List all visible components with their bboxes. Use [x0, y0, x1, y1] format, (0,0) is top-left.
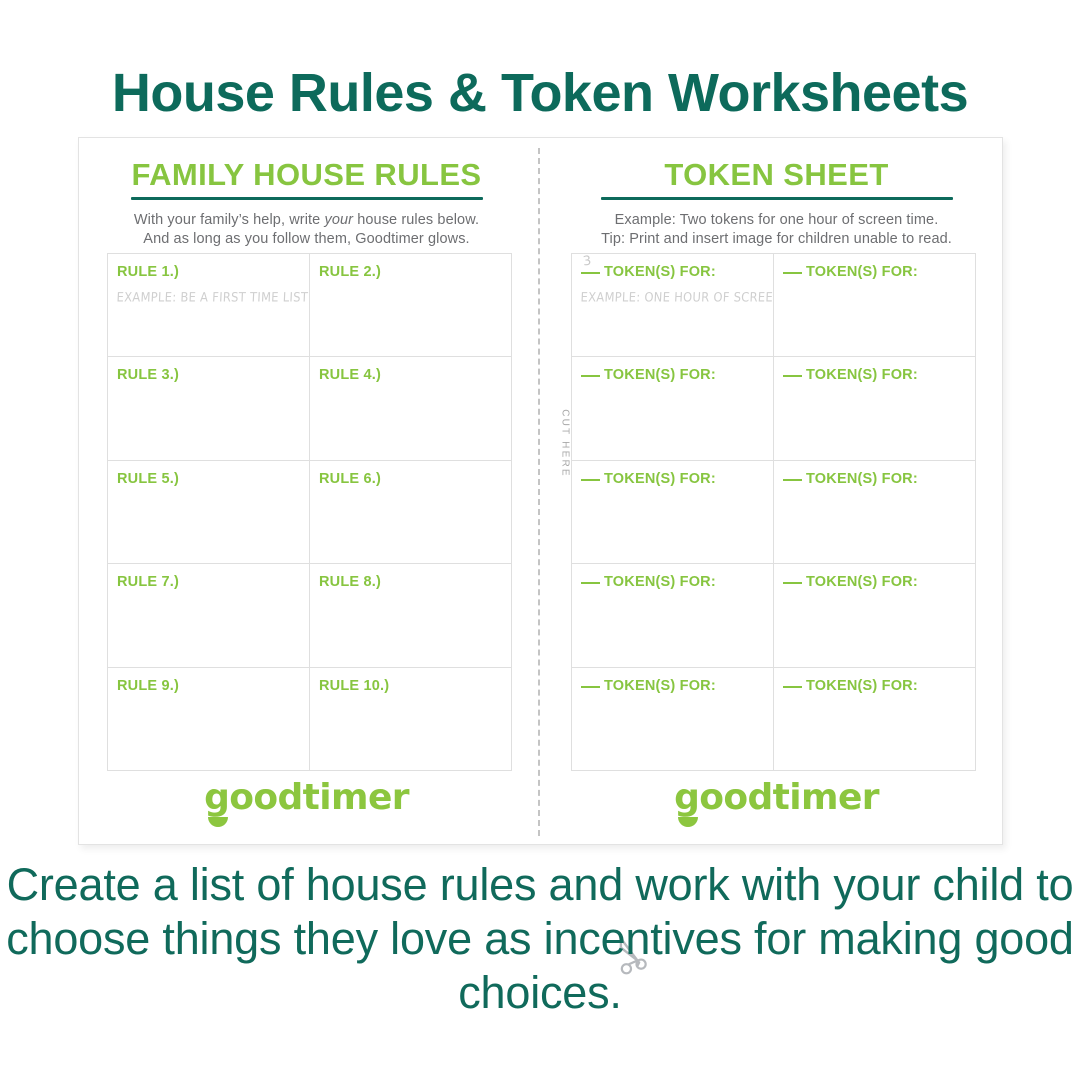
rule-label: RULE 8.) [319, 575, 503, 590]
rule-label: RULE 3.) [117, 368, 301, 383]
token-blank-line[interactable] [581, 272, 600, 274]
token-blank-line[interactable] [581, 582, 600, 584]
subtitle-emphasis: your [324, 212, 353, 228]
goodtimer-logo-right: goodtimer [549, 780, 1004, 816]
left-panel-underline [131, 197, 483, 200]
cut-here-dashed-line [538, 148, 541, 836]
goodtimer-bowl-icon [208, 817, 228, 827]
goodtimer-logo-left: goodtimer [79, 780, 534, 816]
token-label: TOKEN(S) FOR: [581, 472, 765, 487]
goodtimer-wordmark: goodtimer [674, 780, 879, 816]
goodtimer-logo-text: goodtimer [674, 777, 879, 818]
rule-cell[interactable]: RULE 4.) [310, 357, 512, 460]
token-cell[interactable]: 3 TOKEN(S) FOR: EXAMPLE: ONE HOUR OF SCR… [572, 254, 774, 357]
token-label: TOKEN(S) FOR: [783, 368, 967, 383]
worksheet-card: FAMILY HOUSE RULES With your family’s he… [78, 137, 1003, 845]
token-label: TOKEN(S) FOR: [581, 368, 765, 383]
tokens-grid: 3 TOKEN(S) FOR: EXAMPLE: ONE HOUR OF SCR… [571, 253, 976, 771]
rule-label: RULE 5.) [117, 472, 301, 487]
rule-label: RULE 6.) [319, 472, 503, 487]
token-label: TOKEN(S) FOR: [783, 472, 967, 487]
token-label-text: TOKEN(S) FOR: [604, 471, 716, 487]
rule-label: RULE 10.) [319, 679, 503, 694]
token-cell[interactable]: TOKEN(S) FOR: [774, 564, 976, 667]
family-house-rules-panel: FAMILY HOUSE RULES With your family’s he… [79, 138, 534, 844]
right-panel-subtitle-line2: Tip: Print and insert image for children… [549, 230, 1004, 249]
token-cell[interactable]: TOKEN(S) FOR: [774, 461, 976, 564]
token-blank-line[interactable] [783, 272, 802, 274]
rule-label: RULE 7.) [117, 575, 301, 590]
token-label: TOKEN(S) FOR: [581, 575, 765, 590]
rule-cell[interactable]: RULE 10.) [310, 668, 512, 771]
left-panel-header: FAMILY HOUSE RULES With your family’s he… [79, 138, 534, 249]
token-blank-line[interactable] [581, 375, 600, 377]
rule-label: RULE 2.) [319, 265, 503, 280]
right-panel-header: TOKEN SHEET Example: Two tokens for one … [549, 138, 1004, 249]
right-panel-underline [601, 197, 953, 200]
token-blank-line[interactable] [783, 375, 802, 377]
token-handwritten-value: 3 [582, 254, 592, 269]
token-label-text: TOKEN(S) FOR: [604, 264, 716, 280]
token-label: TOKEN(S) FOR: [581, 265, 765, 280]
left-panel-title: FAMILY HOUSE RULES [79, 158, 534, 192]
rule-cell[interactable]: RULE 9.) [108, 668, 310, 771]
token-label: TOKEN(S) FOR: [783, 679, 967, 694]
left-panel-subtitle-line1: With your family’s help, write your hous… [79, 211, 534, 230]
subtitle-text-a: With your family’s help, write [134, 212, 325, 228]
token-sheet-panel: TOKEN SHEET Example: Two tokens for one … [549, 138, 1004, 844]
token-blank-line[interactable] [581, 479, 600, 481]
rules-grid: RULE 1.) EXAMPLE: BE A FIRST TIME LISTEN… [107, 253, 512, 771]
rule-cell[interactable]: RULE 3.) [108, 357, 310, 460]
rule-cell[interactable]: RULE 8.) [310, 564, 512, 667]
rule-cell[interactable]: RULE 5.) [108, 461, 310, 564]
page-caption: Create a list of house rules and work wi… [0, 858, 1080, 1020]
token-label-text: TOKEN(S) FOR: [806, 264, 918, 280]
token-blank-line[interactable] [581, 686, 600, 688]
left-panel-subtitle-line2: And as long as you follow them, Goodtime… [79, 230, 534, 249]
token-label-text: TOKEN(S) FOR: [806, 574, 918, 590]
token-label-text: TOKEN(S) FOR: [604, 678, 716, 694]
worksheet-page: House Rules & Token Worksheets FAMILY HO… [0, 0, 1080, 1080]
goodtimer-wordmark: goodtimer [204, 780, 409, 816]
left-panel-subtitle: With your family’s help, write your hous… [79, 211, 534, 249]
token-label-text: TOKEN(S) FOR: [604, 367, 716, 383]
token-label: TOKEN(S) FOR: [783, 575, 967, 590]
token-cell[interactable]: TOKEN(S) FOR: [774, 668, 976, 771]
token-cell[interactable]: TOKEN(S) FOR: [774, 357, 976, 460]
rule-cell[interactable]: RULE 6.) [310, 461, 512, 564]
token-cell[interactable]: TOKEN(S) FOR: [572, 357, 774, 460]
token-label: TOKEN(S) FOR: [581, 679, 765, 694]
token-label-text: TOKEN(S) FOR: [604, 574, 716, 590]
page-title: House Rules & Token Worksheets [0, 62, 1080, 124]
token-cell[interactable]: TOKEN(S) FOR: [572, 668, 774, 771]
right-panel-subtitle-line1: Example: Two tokens for one hour of scre… [549, 211, 1004, 230]
rule-label: RULE 4.) [319, 368, 503, 383]
rule-label: RULE 9.) [117, 679, 301, 694]
token-label-text: TOKEN(S) FOR: [806, 678, 918, 694]
goodtimer-logo-text: goodtimer [204, 777, 409, 818]
rule-example-text: EXAMPLE: BE A FIRST TIME LISTENER. [116, 289, 301, 305]
token-label-text: TOKEN(S) FOR: [806, 471, 918, 487]
rule-label: RULE 1.) [117, 265, 301, 280]
token-label-text: TOKEN(S) FOR: [806, 367, 918, 383]
right-panel-subtitle: Example: Two tokens for one hour of scre… [549, 211, 1004, 249]
rule-cell[interactable]: RULE 1.) EXAMPLE: BE A FIRST TIME LISTEN… [108, 254, 310, 357]
subtitle-text-b: house rules below. [353, 212, 479, 228]
rule-cell[interactable]: RULE 7.) [108, 564, 310, 667]
token-cell[interactable]: TOKEN(S) FOR: [774, 254, 976, 357]
token-blank-line[interactable] [783, 582, 802, 584]
token-example-text: EXAMPLE: ONE HOUR OF SCREEN TIME. [580, 289, 765, 305]
token-label: TOKEN(S) FOR: [783, 265, 967, 280]
token-cell[interactable]: TOKEN(S) FOR: [572, 461, 774, 564]
rule-cell[interactable]: RULE 2.) [310, 254, 512, 357]
right-panel-title: TOKEN SHEET [549, 158, 1004, 192]
goodtimer-bowl-icon [678, 817, 698, 827]
token-cell[interactable]: TOKEN(S) FOR: [572, 564, 774, 667]
token-blank-line[interactable] [783, 479, 802, 481]
token-blank-line[interactable] [783, 686, 802, 688]
